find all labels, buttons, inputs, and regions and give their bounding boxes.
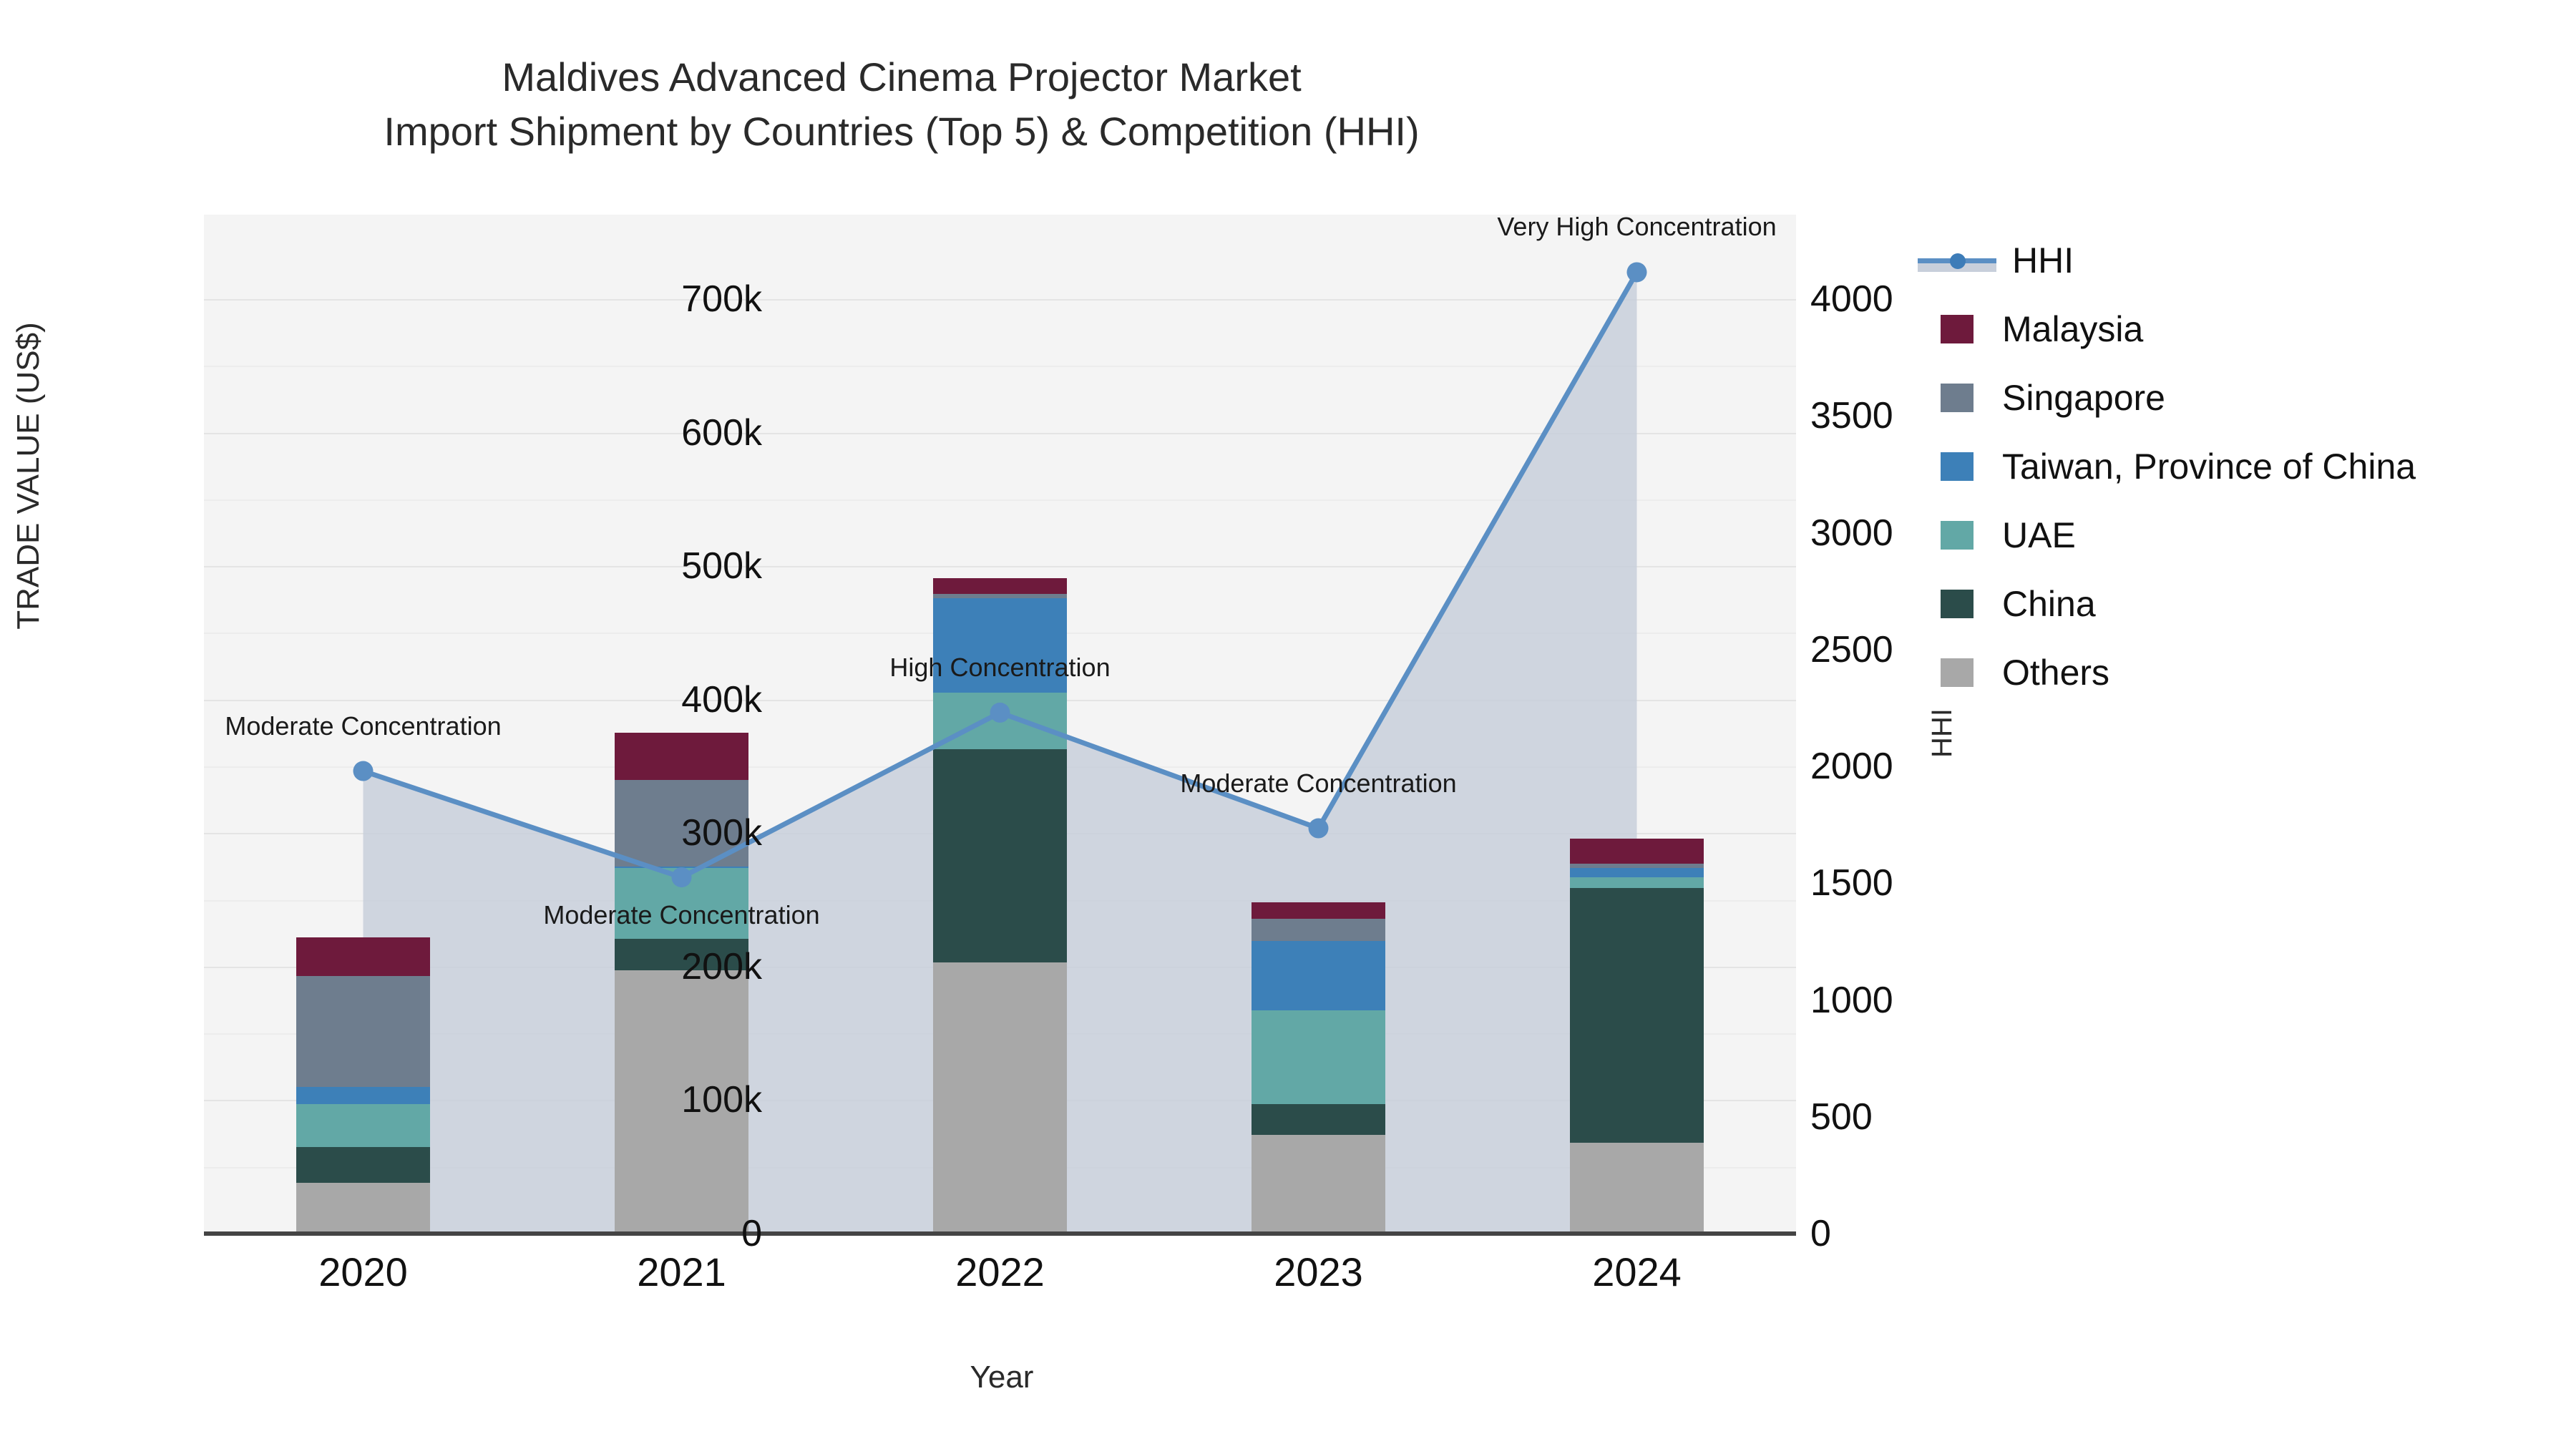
concentration-annotation: High Concentration [889,653,1110,683]
legend-item-label: China [2002,583,2096,625]
y-axis-right-tick: 2000 [1810,745,1893,788]
y-axis-right-tick: 0 [1810,1212,1831,1255]
y-axis-left-tick: 700k [681,278,762,321]
concentration-annotation: Moderate Concentration [1180,769,1456,799]
y-axis-left-tick: 200k [681,945,762,988]
y-axis-left-tick: 600k [681,411,762,454]
y-axis-left-tick: 500k [681,545,762,587]
legend-line-marker-icon [1918,246,1996,275]
legend-item[interactable]: Others [1918,648,2562,697]
legend-swatch-icon [1941,521,1974,550]
legend-swatch-icon [1941,590,1974,618]
legend-item[interactable]: HHI [1918,236,2562,285]
legend-swatch-icon [1941,452,1974,481]
x-axis-tick: 2020 [318,1249,408,1295]
legend-item[interactable]: Taiwan, Province of China [1918,442,2562,491]
concentration-annotation: Moderate Concentration [543,900,819,930]
legend-item-label: Malaysia [2002,308,2143,350]
legend-item-label: UAE [2002,514,2076,556]
hhi-marker[interactable] [990,703,1010,723]
y-axis-left-tick: 100k [681,1078,762,1121]
legend-item-label: HHI [2012,240,2074,281]
x-axis-label: Year [0,1360,2004,1395]
y-axis-right-tick: 4000 [1810,278,1893,321]
y-axis-right-tick: 1500 [1810,862,1893,904]
x-axis-tick: 2021 [637,1249,726,1295]
legend-item[interactable]: Singapore [1918,374,2562,422]
x-axis-tick: 2023 [1274,1249,1363,1295]
plot-area: Moderate ConcentrationModerate Concentra… [204,215,1796,1234]
legend-swatch-icon [1941,384,1974,412]
legend-item[interactable]: Malaysia [1918,305,2562,353]
y-axis-right-tick: 3000 [1810,512,1893,555]
legend-swatch-icon [1941,315,1974,343]
y-axis-right-tick: 3500 [1810,394,1893,437]
hhi-marker[interactable] [1309,819,1329,839]
y-axis-left-tick: 0 [741,1212,762,1255]
y-axis-left-tick: 400k [681,678,762,721]
legend-item[interactable]: UAE [1918,511,2562,560]
y-axis-right-label: HHI [1926,708,1958,758]
concentration-annotation: Moderate Concentration [225,711,501,741]
chart-title: Maldives Advanced Cinema Projector Marke… [0,50,1803,158]
legend-swatch-icon [1941,658,1974,687]
x-axis-tick: 2022 [955,1249,1045,1295]
y-axis-left-label: TRADE VALUE (US$) [11,275,47,676]
legend-item-label: Taiwan, Province of China [2002,446,2416,487]
chart-title-line-2: Import Shipment by Countries (Top 5) & C… [0,104,1803,159]
chart-legend: HHIMalaysiaSingaporeTaiwan, Province of … [1918,236,2562,717]
hhi-marker[interactable] [672,867,692,887]
chart-root: Maldives Advanced Cinema Projector Marke… [0,0,2576,1449]
y-axis-right-tick: 500 [1810,1096,1873,1138]
x-axis-spine [204,1231,1796,1236]
legend-item[interactable]: China [1918,580,2562,628]
x-axis-tick: 2024 [1592,1249,1682,1295]
y-axis-left-tick: 300k [681,811,762,854]
legend-item-label: Others [2002,652,2109,693]
legend-item-label: Singapore [2002,377,2165,419]
hhi-marker[interactable] [1627,262,1647,282]
concentration-annotation: Very High Concentration [1497,212,1776,242]
y-axis-right-tick: 1000 [1810,979,1893,1022]
hhi-marker[interactable] [353,761,374,781]
chart-title-line-1: Maldives Advanced Cinema Projector Marke… [0,50,1803,104]
y-axis-right-tick: 2500 [1810,628,1893,671]
